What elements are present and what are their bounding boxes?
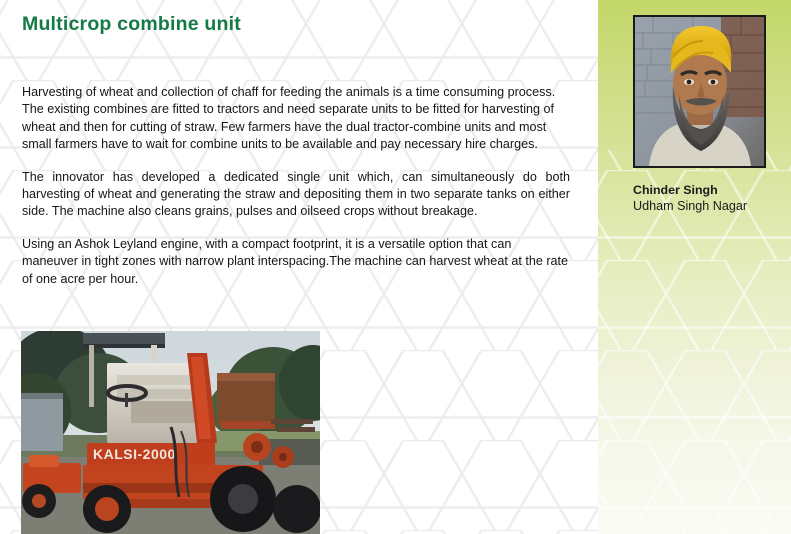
sidebar-panel: Chinder Singh Udham Singh Nagar [598,0,791,534]
machine-photo: KALSI-2000 [21,331,320,534]
page-title: Multicrop combine unit [22,13,241,36]
innovator-portrait [633,15,766,168]
brochure-page: Multicrop combine unit Harvesting of whe… [0,0,791,534]
svg-text:KALSI-2000: KALSI-2000 [93,446,176,462]
article-body: Harvesting of wheat and collection of ch… [22,84,570,303]
paragraph-1: Harvesting of wheat and collection of ch… [22,84,570,154]
innovator-name: Chinder Singh [633,182,788,198]
main-content-column: Multicrop combine unit Harvesting of whe… [0,0,598,534]
innovator-caption: Chinder Singh Udham Singh Nagar [633,182,788,215]
innovator-place: Udham Singh Nagar [633,198,788,215]
paragraph-2: The innovator has developed a dedicated … [22,169,570,221]
paragraph-3: Using an Ashok Leyland engine, with a co… [22,236,570,288]
